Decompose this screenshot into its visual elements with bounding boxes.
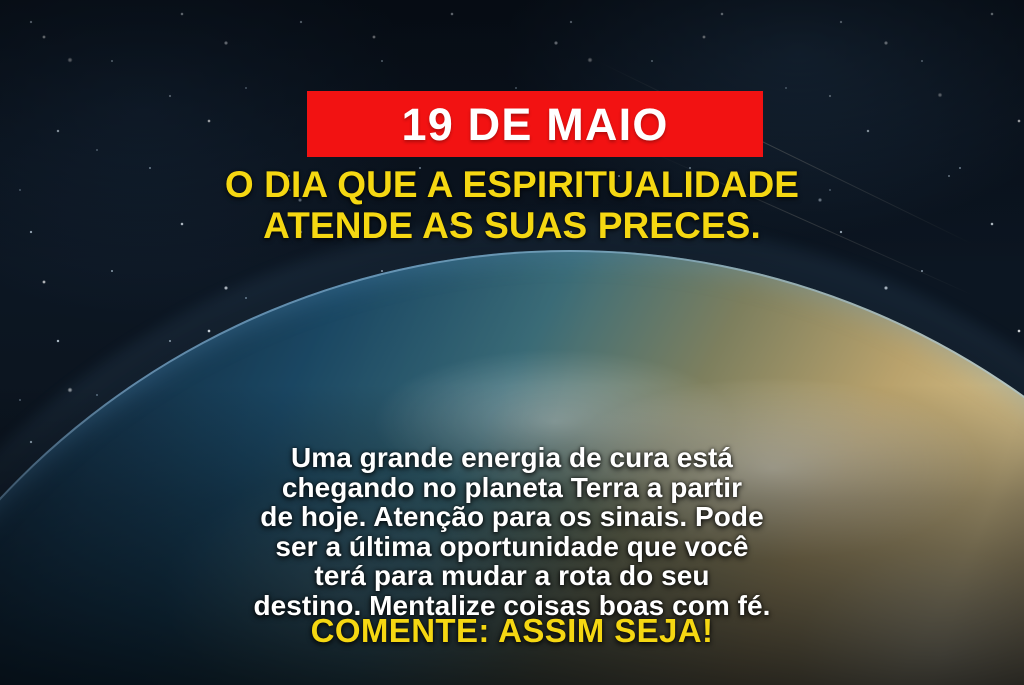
call-to-action: COMENTE: ASSIM SEJA! [0,614,1024,647]
call-to-action-label: COMENTE: ASSIM SEJA! [311,612,714,649]
body-copy-line-4: ser a última oportunidade que você [0,532,1024,562]
body-copy: Uma grande energia de cura está chegando… [0,443,1024,620]
date-banner-label: 19 DE MAIO [401,102,668,147]
headline-line-1: O DIA QUE A ESPIRITUALIDADE [0,164,1024,205]
poster-canvas: 19 DE MAIO O DIA QUE A ESPIRITUALIDADE A… [0,0,1024,685]
headline-line-2: ATENDE AS SUAS PRECES. [0,205,1024,246]
poster-content: 19 DE MAIO O DIA QUE A ESPIRITUALIDADE A… [0,0,1024,685]
body-copy-line-3: de hoje. Atenção para os sinais. Pode [0,502,1024,532]
headline: O DIA QUE A ESPIRITUALIDADE ATENDE AS SU… [0,164,1024,246]
body-copy-line-5: terá para mudar a rota do seu [0,561,1024,591]
body-copy-line-1: Uma grande energia de cura está [0,443,1024,473]
date-banner: 19 DE MAIO [307,91,763,157]
body-copy-line-2: chegando no planeta Terra a partir [0,473,1024,503]
